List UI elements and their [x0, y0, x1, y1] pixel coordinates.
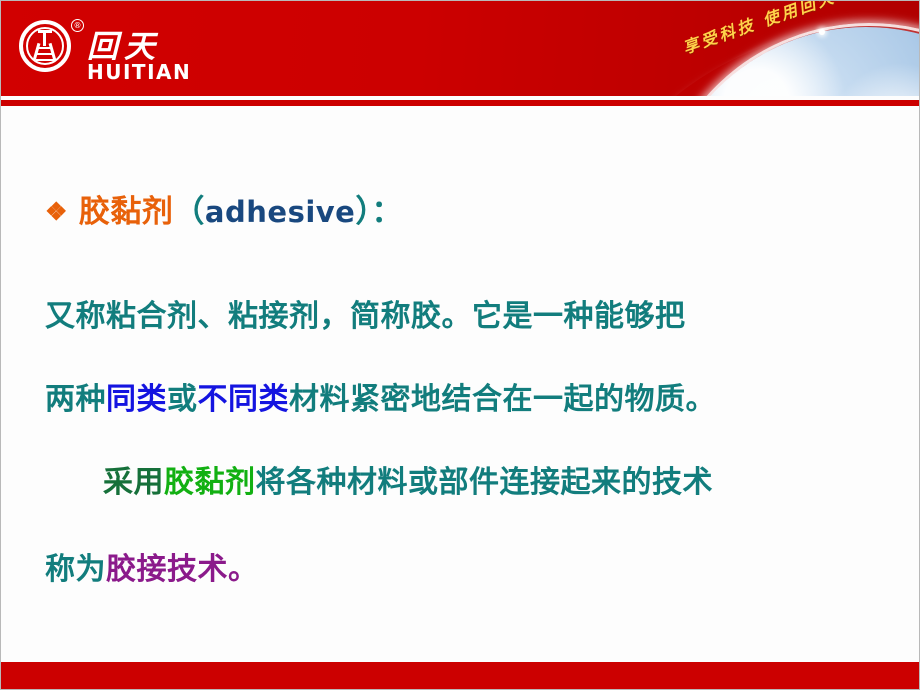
header-divider-rule: [1, 100, 920, 106]
heading-term: 胶黏剂: [79, 194, 174, 230]
swoosh-end-dot-icon: [819, 29, 825, 35]
heading-paren-open: （: [173, 194, 205, 230]
body-line-5-seg-3: 。: [228, 552, 259, 587]
body-line-3-seg-4: 不同类: [198, 382, 290, 417]
presentation-slide: 享受科技 使用回天 ® 回天 HUITIAN: [0, 0, 920, 690]
heading-colon: ：: [371, 194, 403, 230]
heading-line: ❖胶黏剂（adhesive）：: [45, 186, 403, 231]
slide-footer-bar: [1, 662, 920, 690]
body-line-4-seg-3: 将各种材料或部件连接起来的技术: [256, 465, 714, 500]
body-line-4: 采用胶黏剂将各种材料或部件连接起来的技术: [45, 457, 713, 501]
body-line-5-seg-2: 胶接技术: [106, 552, 228, 587]
heading-paren-close: ）: [355, 194, 371, 230]
body-line-3-seg-1: 两种: [45, 382, 106, 417]
slide-content: ❖胶黏剂（adhesive）： 又称粘合剂、粘接剂，简称胶。它是一种能够把 两种…: [1, 111, 920, 659]
logo-english-name: HUITIAN: [87, 60, 191, 84]
body-line-3-seg-3: 或: [167, 382, 198, 417]
body-line-4-seg-1: 采用: [103, 465, 164, 500]
body-line-3-seg-5: 材料紧密地结合在一起的物质。: [289, 382, 716, 417]
heading-english-term: adhesive: [205, 195, 355, 229]
logo-glyph-icon: [31, 30, 59, 64]
body-line-5: 称为胶接技术。: [45, 544, 259, 588]
registered-trademark-icon: ®: [71, 19, 84, 32]
body-line-3: 两种同类或不同类材料紧密地结合在一起的物质。: [45, 374, 716, 418]
huitian-emblem-icon: [19, 20, 77, 78]
body-line-5-seg-1: 称为: [45, 552, 106, 587]
body-line-3-seg-2: 同类: [106, 382, 167, 417]
slide-header-banner: 享受科技 使用回天 ® 回天 HUITIAN: [1, 1, 920, 96]
body-line-2: 又称粘合剂、粘接剂，简称胶。它是一种能够把: [45, 291, 686, 335]
body-line-2-text: 又称粘合剂、粘接剂，简称胶。它是一种能够把: [45, 299, 686, 334]
company-logo: ® 回天 HUITIAN: [19, 20, 189, 82]
diamond-bullet-icon: ❖: [45, 197, 68, 226]
body-line-4-seg-2: 胶黏剂: [164, 465, 256, 500]
